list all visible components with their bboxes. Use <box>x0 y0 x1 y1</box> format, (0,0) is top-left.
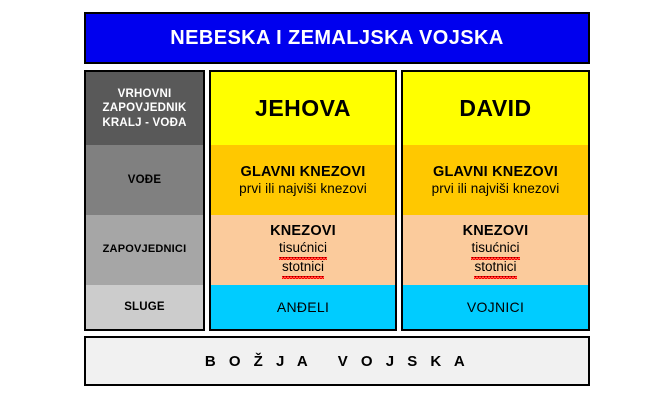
tier-item: stotnici <box>474 258 516 277</box>
tier-title: VOJNICI <box>467 299 524 315</box>
rank-label-commanders: ZAPOVJEDNICI <box>86 215 203 285</box>
tier-soldiers-david: VOJNICI <box>403 285 588 329</box>
hierarchy-matrix: VRHOVNI ZAPOVJEDNIK KRALJ - VOĐA VOĐE ZA… <box>84 70 590 331</box>
hierarchy-diagram: NEBESKA I ZEMALJSKA VOJSKA VRHOVNI ZAPOV… <box>0 0 663 408</box>
rank-label-line: SLUGE <box>124 300 165 314</box>
tier-chief-princes-jehova: GLAVNI KNEZOVI prvi ili najviši knezovi <box>211 145 395 215</box>
tier-title: GLAVNI KNEZOVI <box>433 164 558 180</box>
footer-title: B O Ž J A V O J S K A <box>205 353 469 370</box>
diagram-title: NEBESKA I ZEMALJSKA VOJSKA <box>170 27 503 50</box>
tier-title: KNEZOVI <box>463 223 529 239</box>
tier-princes-david: KNEZOVI tisućnici stotnici <box>403 215 588 285</box>
diagram-title-banner: NEBESKA I ZEMALJSKA VOJSKA <box>84 12 590 64</box>
column-heading-david: DAVID <box>403 72 588 145</box>
rank-label-line: VOĐE <box>128 173 161 187</box>
tier-title: ANĐELI <box>277 299 329 315</box>
tier-angels-jehova: ANĐELI <box>211 285 395 329</box>
tier-item: tisućnici <box>279 239 327 258</box>
tier-subtitle: prvi ili najviši knezovi <box>239 181 367 196</box>
tier-subtitle: prvi ili najviši knezovi <box>432 181 560 196</box>
tier-item: tisućnici <box>471 239 519 258</box>
diagram-footer-banner: B O Ž J A V O J S K A <box>84 336 590 386</box>
rank-label-leaders: VOĐE <box>86 145 203 215</box>
rank-label-servants: SLUGE <box>86 285 203 329</box>
column-heading-jehova: JEHOVA <box>211 72 395 145</box>
rank-label-line: ZAPOVJEDNIK <box>102 101 186 115</box>
hierarchy-column-david: DAVID GLAVNI KNEZOVI prvi ili najviši kn… <box>401 70 590 331</box>
tier-chief-princes-david: GLAVNI KNEZOVI prvi ili najviši knezovi <box>403 145 588 215</box>
rank-label-line: VRHOVNI <box>102 87 186 101</box>
rank-label-supreme-commander: VRHOVNI ZAPOVJEDNIK KRALJ - VOĐA <box>86 72 203 145</box>
column-name: JEHOVA <box>255 95 351 122</box>
tier-title: GLAVNI KNEZOVI <box>241 164 366 180</box>
rank-label-column: VRHOVNI ZAPOVJEDNIK KRALJ - VOĐA VOĐE ZA… <box>84 70 205 331</box>
tier-title: KNEZOVI <box>270 223 336 239</box>
rank-label-line: KRALJ - VOĐA <box>102 116 186 130</box>
column-name: DAVID <box>459 95 531 122</box>
hierarchy-column-jehova: JEHOVA GLAVNI KNEZOVI prvi ili najviši k… <box>209 70 397 331</box>
tier-princes-jehova: KNEZOVI tisućnici stotnici <box>211 215 395 285</box>
tier-item: stotnici <box>282 258 324 277</box>
rank-label-line: ZAPOVJEDNICI <box>103 243 187 256</box>
